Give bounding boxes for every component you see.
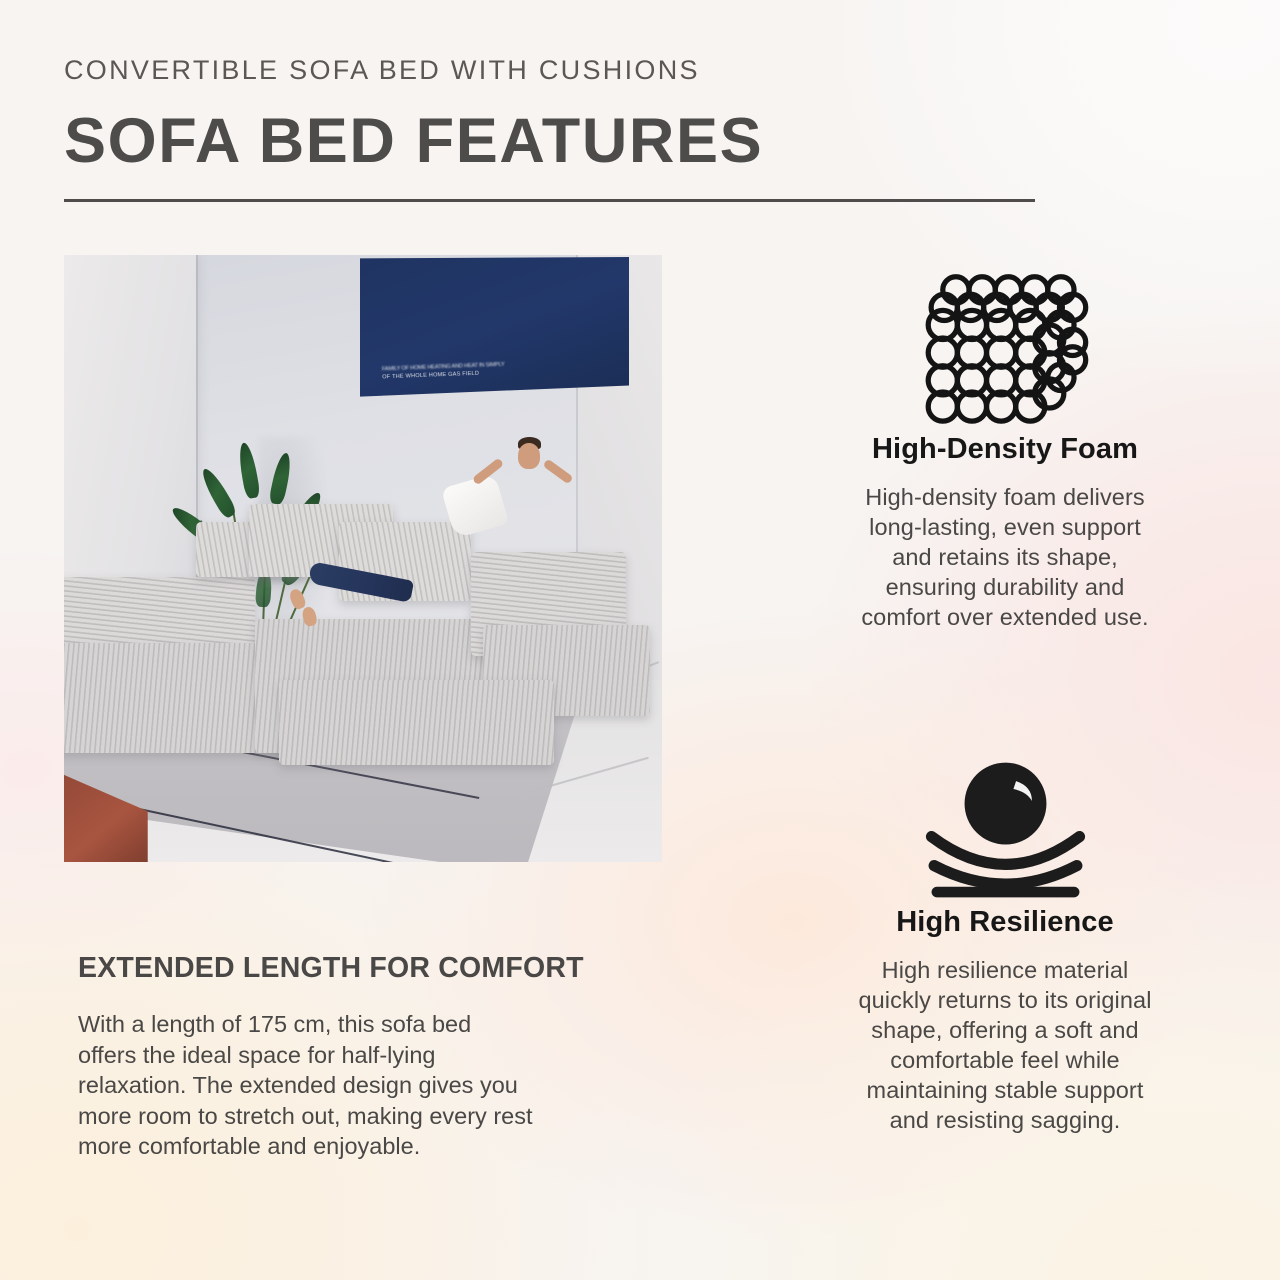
feature-body-line: maintaining stable support <box>770 1075 1240 1105</box>
extended-length-body-line: offers the ideal space for half-lying <box>78 1040 698 1071</box>
extended-length-title: EXTENDED LENGTH FOR COMFORT <box>78 952 698 985</box>
product-photo: FAMILY OF HOME HEATING AND HEAT IN SIMPL… <box>64 255 662 862</box>
feature-block-extended-length: EXTENDED LENGTH FOR COMFORT With a lengt… <box>78 952 698 1162</box>
photo-panel-text: FAMILY OF HOME HEATING AND HEAT IN SIMPL… <box>381 356 613 381</box>
feature-body-line: comfort over extended use. <box>770 602 1240 632</box>
feature-body-line: ensuring durability and <box>770 572 1240 602</box>
extended-length-body-line: more room to stretch out, making every r… <box>78 1101 698 1132</box>
feature-title: High-Density Foam <box>770 433 1240 466</box>
feature-body-line: shape, offering a soft and <box>770 1015 1240 1045</box>
feature-body: High-density foam delivers long-lasting,… <box>770 482 1240 632</box>
feature-body-line: comfortable feel while <box>770 1045 1240 1075</box>
extended-length-body-line: relaxation. The extended design gives yo… <box>78 1070 698 1101</box>
page-header: CONVERTIBLE SOFA BED WITH CUSHIONS SOFA … <box>64 56 1064 174</box>
feature-body-line: High resilience material <box>770 955 1240 985</box>
eyebrow-text: CONVERTIBLE SOFA BED WITH CUSHIONS <box>64 56 1064 86</box>
feature-body-line: long-lasting, even support <box>770 512 1240 542</box>
feature-card-high-density-foam: High-Density Foam High-density foam deli… <box>770 252 1240 632</box>
feature-body-line: quickly returns to its original <box>770 985 1240 1015</box>
feature-body-line: and resisting sagging. <box>770 1105 1240 1135</box>
foam-bubble-cube-icon <box>770 252 1240 427</box>
resilience-bouncing-ball-icon <box>770 760 1240 900</box>
photo-person-head <box>518 443 540 469</box>
feature-card-high-resilience: High Resilience High resilience material… <box>770 760 1240 1135</box>
feature-body: High resilience material quickly returns… <box>770 955 1240 1135</box>
feature-body-line: and retains its shape, <box>770 542 1240 572</box>
page-title: SOFA BED FEATURES <box>64 108 1064 175</box>
photo-navy-wall-panel: FAMILY OF HOME HEATING AND HEAT IN SIMPL… <box>360 257 629 397</box>
feature-title: High Resilience <box>770 906 1240 939</box>
feature-body-line: High-density foam delivers <box>770 482 1240 512</box>
extended-length-body-line: With a length of 175 cm, this sofa bed <box>78 1009 698 1040</box>
header-divider-rule <box>64 199 1035 202</box>
extended-length-body: With a length of 175 cm, this sofa bed o… <box>78 1009 698 1162</box>
photo-sofa-base-front <box>279 680 554 765</box>
extended-length-body-line: more comfortable and enjoyable. <box>78 1131 698 1162</box>
